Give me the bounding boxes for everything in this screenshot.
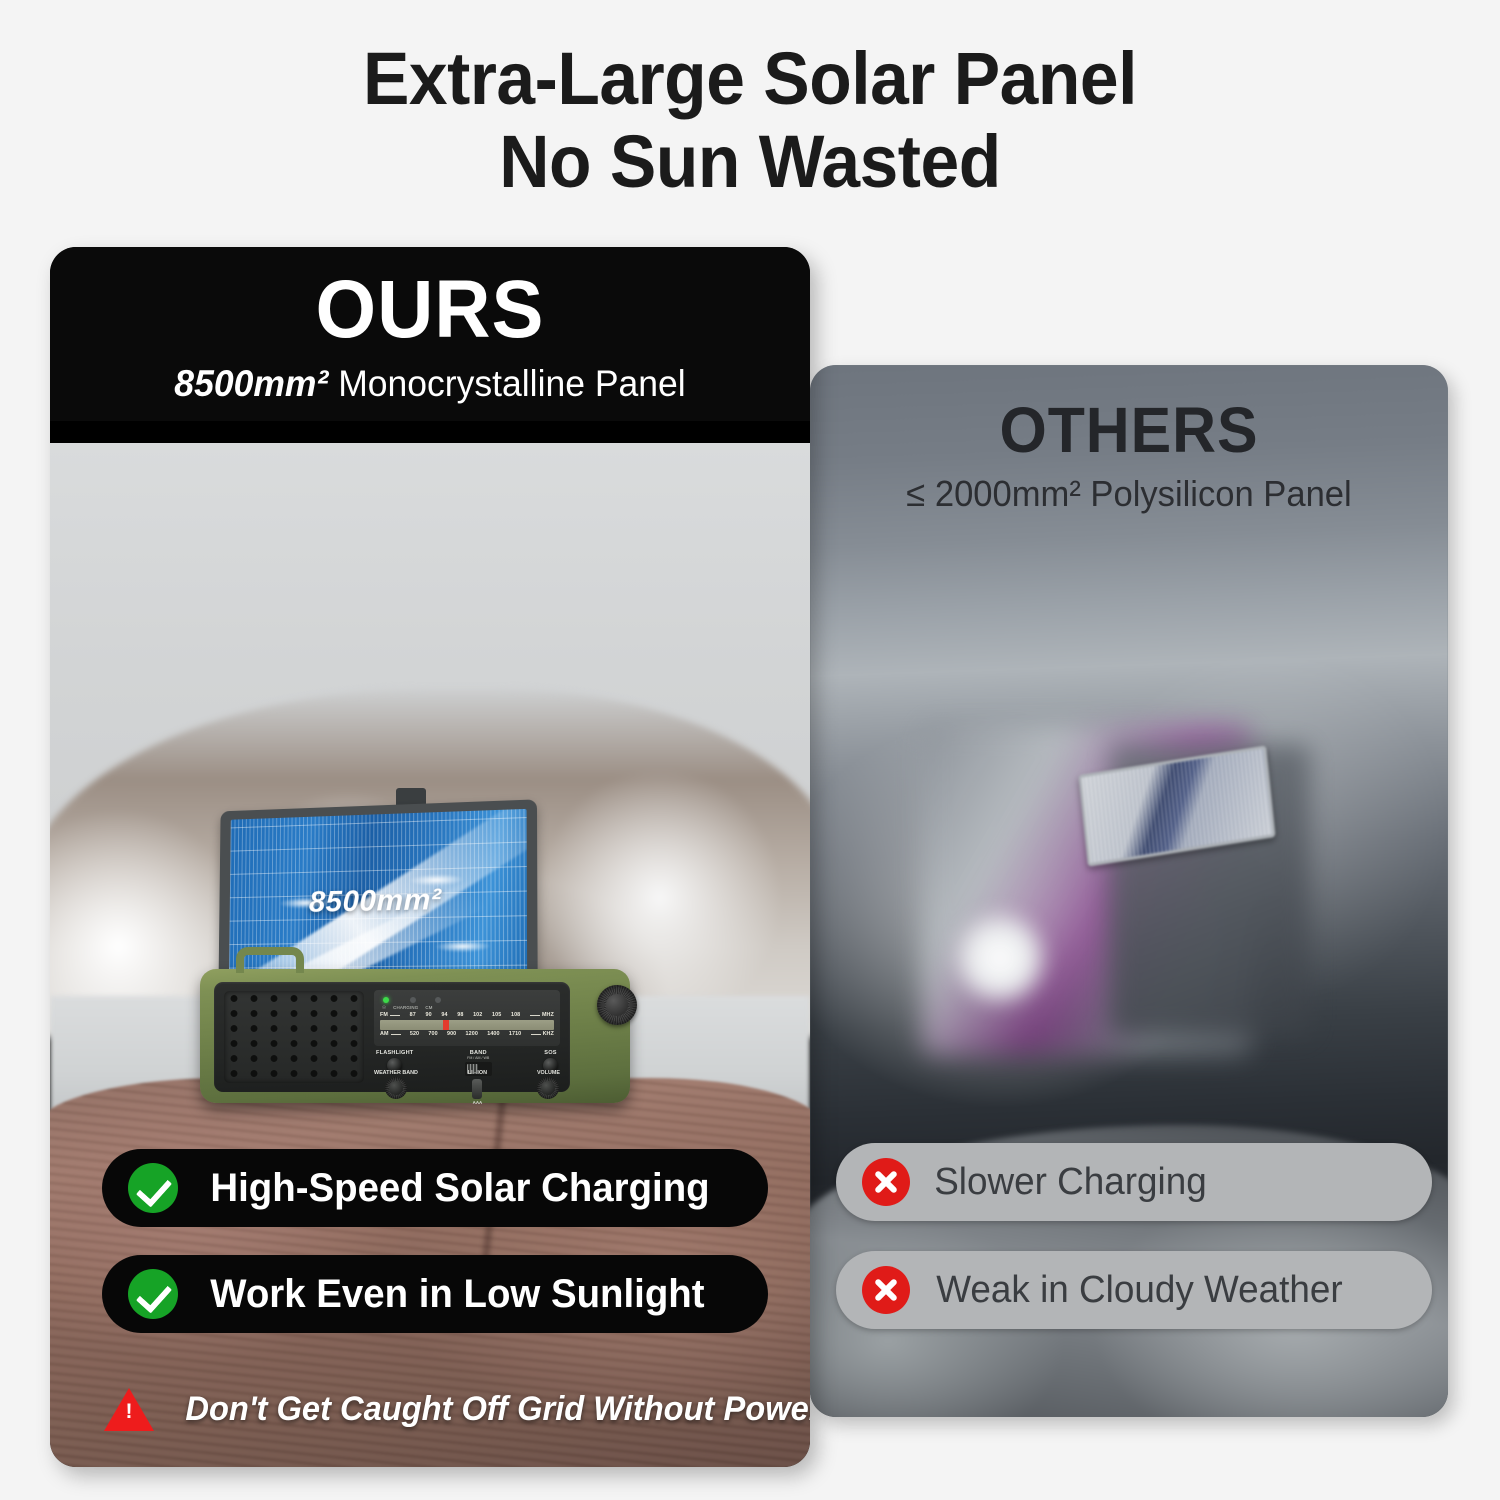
sos-label: SOS <box>543 1050 558 1056</box>
li-ion-label: LI - ION <box>468 1070 487 1076</box>
flashlight-label: FLASHLIGHT <box>376 1050 413 1056</box>
am-tick: 1200 <box>466 1031 478 1037</box>
radio-knob-row: WEATHER BAND LI - ION AAA VOLUME <box>374 1070 560 1105</box>
others-spec-text: ≤ 2000mm² Polysilicon Panel <box>823 473 1435 515</box>
am-tick: 520 <box>410 1031 419 1037</box>
ours-header: OURS 8500mm² Monocrystalline Panel <box>50 247 810 421</box>
volume-knob-cap[interactable] <box>537 1077 559 1099</box>
ours-benefit-item: High-Speed Solar Charging <box>102 1149 768 1227</box>
fm-tick: 87 <box>410 1012 416 1018</box>
am-tick: 900 <box>447 1031 456 1037</box>
weather-band-label: WEATHER BAND <box>374 1070 418 1076</box>
weather-band-knob[interactable]: WEATHER BAND <box>374 1070 418 1099</box>
panel-glint-icon <box>435 940 490 952</box>
led-label-power: ☉ <box>382 1005 386 1011</box>
ours-spec-text: 8500mm² Monocrystalline Panel <box>82 363 777 405</box>
others-drawback-label: Weak in Cloudy Weather <box>936 1269 1342 1312</box>
led-label-cm: CM <box>425 1005 432 1011</box>
am-tick: 1400 <box>487 1031 499 1037</box>
speaker-grille <box>224 991 364 1083</box>
ours-spec-value: 8500mm² <box>174 363 328 404</box>
solar-panel-area-label: 8500mm² <box>230 880 527 920</box>
ours-title: OURS <box>86 269 774 351</box>
band-sublabel: FM / AM / WB <box>465 1056 492 1060</box>
li-ion-switch[interactable]: LI - ION AAA <box>468 1070 487 1105</box>
am-tick: 700 <box>428 1031 437 1037</box>
charging-led-icon <box>410 997 416 1003</box>
ours-benefit-label: High-Speed Solar Charging <box>210 1166 709 1211</box>
others-drawback-list: Slower Charging Weak in Cloudy Weather <box>836 1143 1432 1359</box>
led-label-charging: CHARGING <box>393 1005 418 1011</box>
fm-tick: 105 <box>492 1012 501 1018</box>
others-drawback-item: Weak in Cloudy Weather <box>836 1251 1432 1329</box>
side-tuning-knob <box>597 985 637 1025</box>
weather-band-knob-cap[interactable] <box>385 1077 407 1099</box>
page-title: Extra-Large Solar Panel No Sun Wasted <box>0 38 1500 204</box>
ours-benefit-label: Work Even in Low Sunlight <box>210 1272 704 1317</box>
others-title: OTHERS <box>826 393 1432 467</box>
others-card: OTHERS ≤ 2000mm² Polysilicon Panel Slowe… <box>810 365 1448 1417</box>
radio-front-panel: ☉ CHARGING CM FM 87 90 94 98 102 <box>214 982 570 1092</box>
fm-tick: 90 <box>426 1012 432 1018</box>
dial-indicator-bar <box>380 1020 554 1030</box>
headline-line-2: No Sun Wasted <box>45 121 1455 204</box>
fm-unit: MHZ <box>542 1012 554 1018</box>
cm-led-icon <box>435 997 441 1003</box>
status-leds <box>383 995 554 1004</box>
comparison-infographic: Extra-Large Solar Panel No Sun Wasted OT… <box>0 0 1500 1500</box>
ours-card: OURS 8500mm² Monocrystalline Panel <box>50 247 810 1467</box>
fm-tick: 94 <box>441 1012 447 1018</box>
fm-band-label: FM <box>380 1012 388 1018</box>
am-band-label: AM <box>380 1031 389 1037</box>
emergency-radio-device: 8500mm² <box>200 793 630 1103</box>
tuning-needle <box>443 1020 449 1030</box>
volume-label: VOLUME <box>537 1070 560 1076</box>
volume-knob[interactable]: VOLUME <box>537 1070 560 1099</box>
fm-tick: 98 <box>457 1012 463 1018</box>
ours-benefit-list: High-Speed Solar Charging Work Even in L… <box>102 1149 768 1361</box>
fm-tick: 102 <box>473 1012 482 1018</box>
warning-text: Don't Get Caught Off Grid Without Power. <box>185 1390 810 1429</box>
others-drawback-item: Slower Charging <box>836 1143 1432 1221</box>
tuning-dial: ☉ CHARGING CM FM 87 90 94 98 102 <box>374 990 560 1046</box>
x-circle-icon <box>862 1158 910 1206</box>
power-led-icon <box>383 997 389 1003</box>
li-ion-switch-handle[interactable] <box>472 1079 482 1099</box>
fm-scale: FM 87 90 94 98 102 105 108 MHZ <box>380 1012 554 1018</box>
others-drawback-label: Slower Charging <box>934 1161 1206 1204</box>
headline-line-1: Extra-Large Solar Panel <box>45 38 1455 121</box>
ours-product-photo: 8500mm² <box>50 443 810 1467</box>
am-scale: AM 520 700 900 1200 1400 1710 KHZ <box>380 1031 554 1037</box>
others-blurred-lamp-glow <box>952 910 1048 1006</box>
others-header: OTHERS ≤ 2000mm² Polysilicon Panel <box>810 365 1448 515</box>
am-unit: KHZ <box>543 1031 554 1037</box>
x-circle-icon <box>862 1266 910 1314</box>
radio-body: ☉ CHARGING CM FM 87 90 94 98 102 <box>200 969 630 1103</box>
warning-banner: Don't Get Caught Off Grid Without Power. <box>104 1388 780 1431</box>
warning-triangle-icon <box>104 1388 154 1431</box>
carry-handle <box>236 947 304 973</box>
check-circle-icon <box>128 1163 178 1213</box>
ours-benefit-item: Work Even in Low Sunlight <box>102 1255 768 1333</box>
ours-spec-rest: Monocrystalline Panel <box>328 363 685 404</box>
aaa-label: AAA <box>468 1100 487 1105</box>
am-tick: 1710 <box>509 1031 521 1037</box>
fm-tick: 108 <box>511 1012 520 1018</box>
check-circle-icon <box>128 1269 178 1319</box>
status-led-labels: ☉ CHARGING CM <box>382 1005 554 1011</box>
